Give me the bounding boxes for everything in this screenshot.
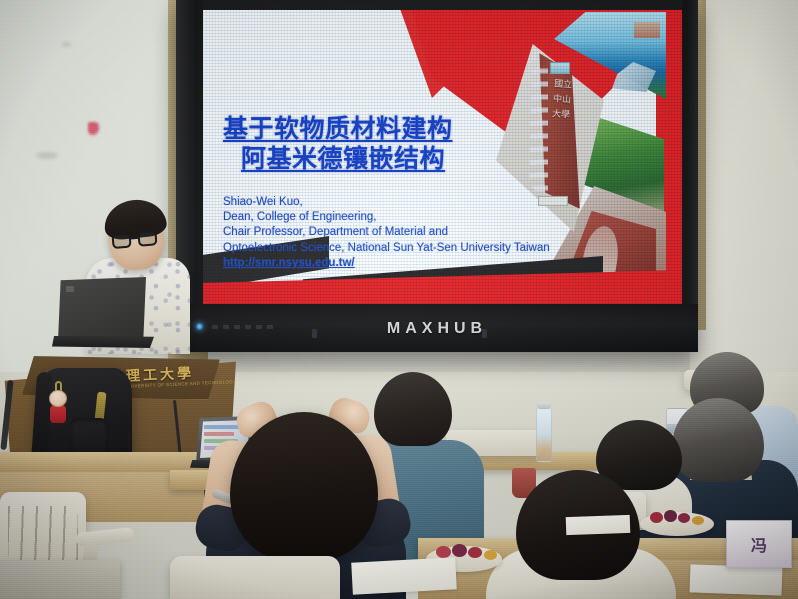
speaker-role-dean: Dean, College of Engineering, xyxy=(223,210,643,225)
fruit-orange xyxy=(692,516,704,525)
glasses-lens-left xyxy=(111,232,131,249)
speaker-url: http://smr.nsysu.edu.tw/ xyxy=(223,256,643,271)
fruit-orange xyxy=(484,550,497,560)
fruit-grape xyxy=(678,513,690,523)
photo-coastline-town xyxy=(634,22,660,38)
fruit-grape xyxy=(452,544,467,557)
doll-head xyxy=(49,390,67,407)
lecture-hall-photo: 國立中山大學 基于软物质材料建构 阿基米德镶嵌结构 Shiao-Wei Kuo,… xyxy=(0,0,798,599)
whiteboard-red-mark xyxy=(88,122,100,136)
chair-foreground-center xyxy=(170,556,340,599)
whiteboard-smudge xyxy=(36,152,58,159)
doll-charm xyxy=(48,390,68,424)
glasses-lens-right xyxy=(137,230,157,247)
display-brand-label: MAXHUB xyxy=(176,320,698,338)
fruit-grape xyxy=(650,512,663,523)
laptop-logo-icon xyxy=(66,286,74,292)
tower-sign xyxy=(550,62,570,74)
name-card: 冯 xyxy=(726,520,792,568)
floor-panel xyxy=(0,560,120,599)
slide-speaker-info: Shiao-Wei Kuo, Dean, College of Engineer… xyxy=(223,195,643,271)
papers-on-desk xyxy=(690,564,783,595)
speaker-affiliation: Optoelectronic Science, National Sun Yat… xyxy=(223,241,643,256)
fruit-grape xyxy=(436,546,451,558)
speaker-name: Shiao-Wei Kuo, xyxy=(223,195,643,210)
slide-title: 基于软物质材料建构 阿基米德镶嵌结构 xyxy=(223,114,533,174)
slide-title-line1: 基于软物质材料建构 xyxy=(223,114,533,144)
water-bottle xyxy=(536,406,552,462)
bottle-cap xyxy=(537,402,551,409)
fruit-grape xyxy=(468,547,482,558)
display-bezel-top xyxy=(176,0,698,10)
fruit-grape xyxy=(664,510,677,522)
room-wall-right xyxy=(690,0,798,380)
display-bezel-right xyxy=(682,0,698,352)
papers-on-desk xyxy=(351,557,457,594)
presenter-laptop-base xyxy=(52,336,154,348)
tower-chinese-name: 國立中山大學 xyxy=(550,77,573,123)
speaker-role-chair: Chair Professor, Department of Material … xyxy=(223,225,643,240)
whiteboard-smudge xyxy=(62,42,71,47)
maxhub-display: 國立中山大學 基于软物质材料建构 阿基米德镶嵌结构 Shiao-Wei Kuo,… xyxy=(176,0,698,352)
presentation-slide: 國立中山大學 基于软物质材料建构 阿基米德镶嵌结构 Shiao-Wei Kuo,… xyxy=(203,10,682,304)
papers-on-desk xyxy=(566,515,631,535)
slide-title-line2: 阿基米德镶嵌结构 xyxy=(223,144,533,174)
